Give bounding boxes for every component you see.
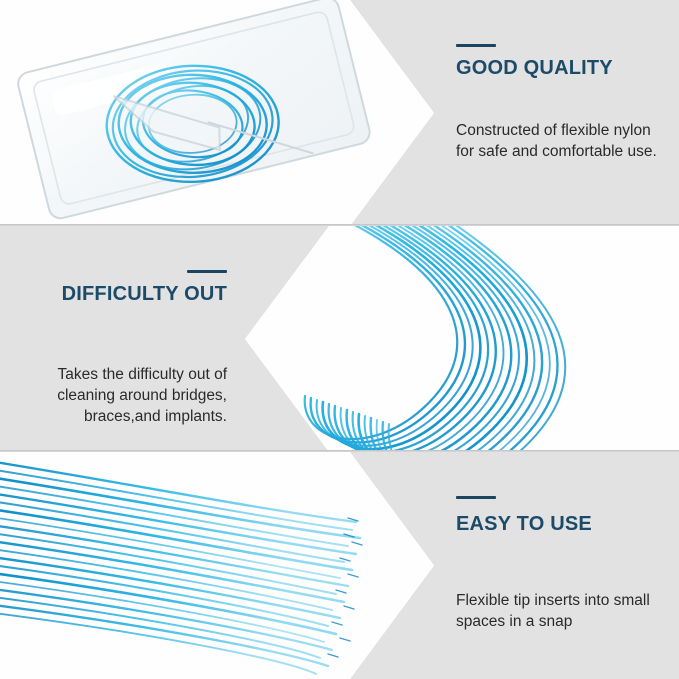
floss-threader-case-illustration xyxy=(0,0,434,226)
panel-body-text: Flexible tip inserts into small spaces i… xyxy=(456,590,673,632)
product-photo-case xyxy=(0,0,434,226)
panel-divider xyxy=(0,450,679,452)
panel-heading: DIFFICULTY OUT xyxy=(62,282,227,306)
floss-threader-loop-illustration xyxy=(245,226,679,452)
product-photo-loop xyxy=(245,226,679,452)
accent-rule-icon xyxy=(456,44,496,47)
feature-text-good-quality: GOOD QUALITY Constructed of flexible nyl… xyxy=(434,0,679,226)
panel-divider xyxy=(0,224,679,226)
floss-threader-bundle-illustration xyxy=(0,452,434,679)
panel-heading: GOOD QUALITY xyxy=(456,56,613,80)
panel-body-text: Takes the difficulty out of cleaning aro… xyxy=(6,364,227,427)
feature-text-easy-to-use: EASY TO USE Flexible tip inserts into sm… xyxy=(434,452,679,679)
feature-panel-good-quality: GOOD QUALITY Constructed of flexible nyl… xyxy=(0,0,679,226)
panel-heading: EASY TO USE xyxy=(456,512,592,536)
feature-text-difficulty-out: DIFFICULTY OUT Takes the difficulty out … xyxy=(0,226,245,452)
feature-panel-easy-to-use: EASY TO USE Flexible tip inserts into sm… xyxy=(0,452,679,679)
product-feature-graphic: GOOD QUALITY Constructed of flexible nyl… xyxy=(0,0,679,679)
product-photo-bundle xyxy=(0,452,434,679)
accent-rule-icon xyxy=(187,270,227,273)
panel-body-text: Constructed of flexible nylon for safe a… xyxy=(456,120,673,162)
accent-rule-icon xyxy=(456,496,496,499)
feature-panel-difficulty-out: DIFFICULTY OUT Takes the difficulty out … xyxy=(0,226,679,452)
